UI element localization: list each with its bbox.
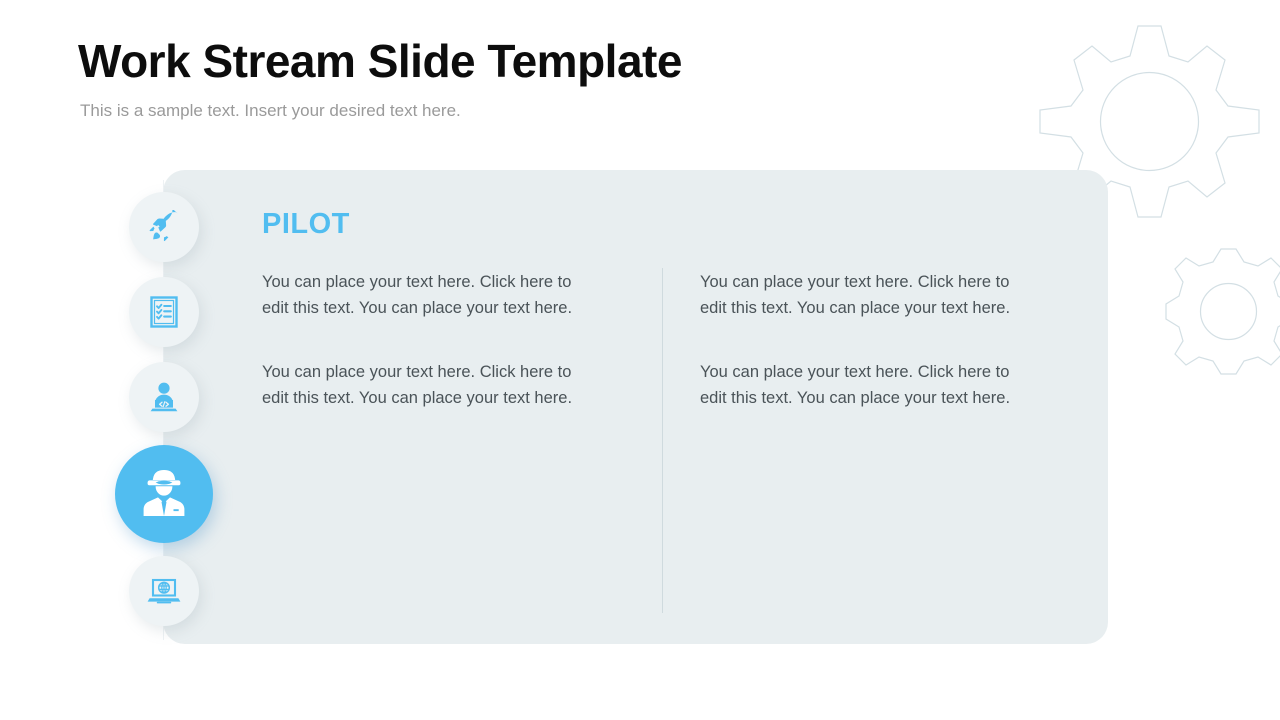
pilot-icon xyxy=(136,466,192,522)
laptop-globe-icon xyxy=(146,576,182,606)
paragraph: You can place your text here. Click here… xyxy=(700,359,1030,411)
paragraph: You can place your text here. Click here… xyxy=(262,359,592,411)
rail-item-pilot[interactable] xyxy=(115,445,213,543)
paragraph: You can place your text here. Click here… xyxy=(262,269,592,321)
page-subtitle: This is a sample text. Insert your desir… xyxy=(80,101,838,121)
section-title: PILOT xyxy=(262,208,1062,241)
rail-item-laptop-globe[interactable] xyxy=(129,556,199,626)
column-right: You can place your text here. Click here… xyxy=(700,269,1030,411)
paragraph: You can place your text here. Click here… xyxy=(700,269,1030,321)
page-title: Work Stream Slide Template xyxy=(78,36,838,87)
icon-rail xyxy=(115,180,215,640)
column-left: You can place your text here. Click here… xyxy=(262,269,632,411)
content-panel: PILOT You can place your text here. Clic… xyxy=(163,170,1108,644)
rail-item-developer[interactable] xyxy=(129,362,199,432)
rail-item-checklist[interactable] xyxy=(129,277,199,347)
rail-item-rocket[interactable] xyxy=(129,192,199,262)
checklist-icon xyxy=(148,295,180,329)
column-divider xyxy=(662,268,663,613)
gear-small-icon xyxy=(1158,243,1280,383)
slide-header: Work Stream Slide Template This is a sam… xyxy=(78,36,838,121)
rocket-icon xyxy=(147,210,181,244)
developer-icon xyxy=(146,380,182,414)
